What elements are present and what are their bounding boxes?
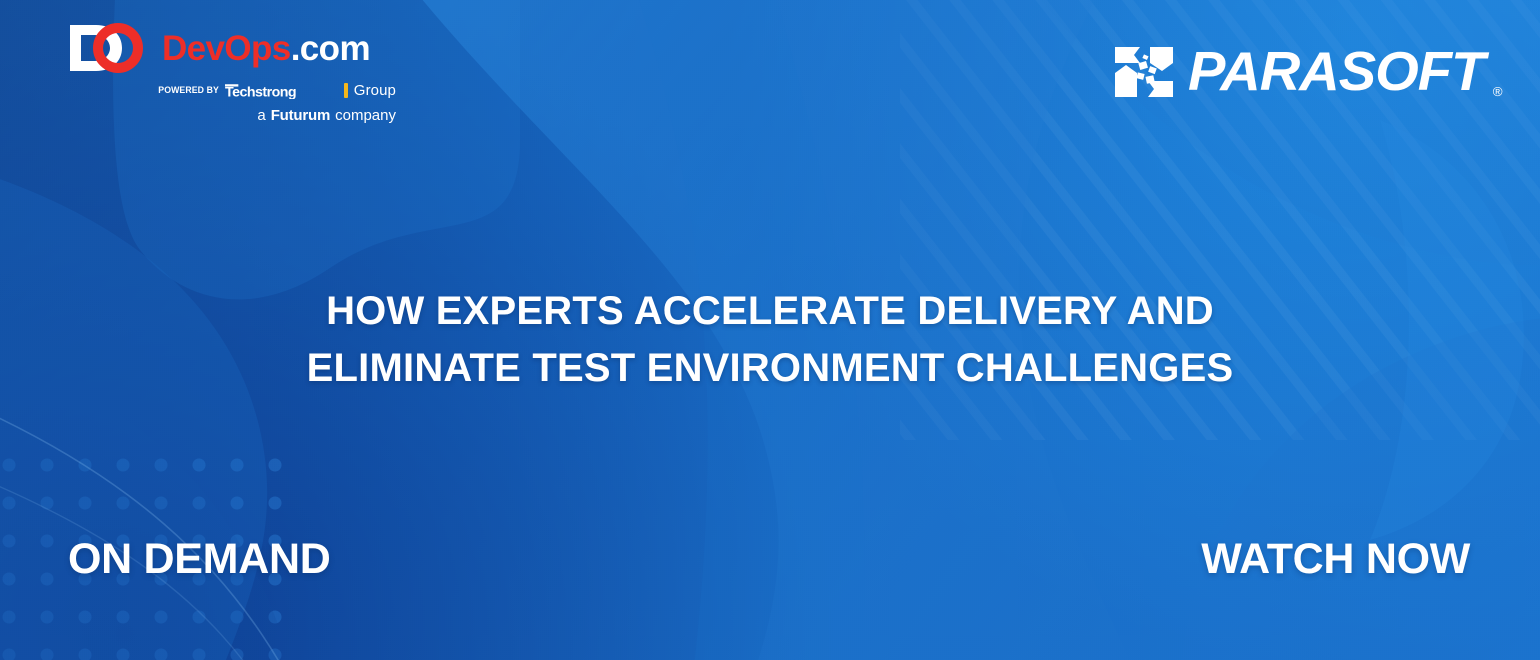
devops-logo[interactable]: DevOps.com POWERED BY Techstrong Group a… bbox=[66, 22, 396, 123]
devops-word-dev: DevOps bbox=[162, 29, 291, 68]
svg-text:Techstrong: Techstrong bbox=[225, 84, 296, 99]
headline-line-2: ELIMINATE TEST ENVIRONMENT CHALLENGES bbox=[90, 340, 1450, 397]
techstrong-group-label: Group bbox=[354, 83, 396, 98]
parasoft-wordmark-text: PARASOFT bbox=[1188, 40, 1484, 102]
availability-badge: ON DEMAND bbox=[68, 538, 330, 581]
registered-trademark-icon: ® bbox=[1492, 85, 1501, 98]
webinar-promo-banner: DevOps.com POWERED BY Techstrong Group a… bbox=[0, 0, 1540, 660]
devops-logo-top-row: DevOps.com bbox=[66, 22, 396, 74]
techstrong-wordmark-icon: Techstrong bbox=[225, 83, 337, 99]
parasoft-geometric-mark-icon bbox=[1114, 45, 1174, 99]
futurum-suffix: company bbox=[335, 108, 396, 123]
page-title: HOW EXPERTS ACCELERATE DELIVERY AND ELIM… bbox=[0, 283, 1540, 397]
powered-by-label: POWERED BY bbox=[158, 85, 219, 96]
watch-now-button[interactable]: WATCH NOW bbox=[1201, 538, 1470, 581]
futurum-company-row: a Futurum company bbox=[66, 108, 396, 123]
parasoft-wordmark: PARASOFT ® bbox=[1188, 44, 1484, 99]
powered-by-techstrong-row: POWERED BY Techstrong Group bbox=[66, 82, 396, 99]
techstrong-divider-bar bbox=[344, 83, 348, 98]
parasoft-logo[interactable]: PARASOFT ® bbox=[1114, 44, 1478, 99]
devops-wordmark: DevOps.com bbox=[162, 31, 370, 66]
devops-word-com: .com bbox=[291, 29, 370, 68]
headline-line-1: HOW EXPERTS ACCELERATE DELIVERY AND bbox=[90, 283, 1450, 340]
devops-do-mark-icon bbox=[66, 22, 152, 74]
futurum-prefix: a bbox=[257, 108, 265, 123]
futurum-name: Futurum bbox=[271, 108, 330, 123]
